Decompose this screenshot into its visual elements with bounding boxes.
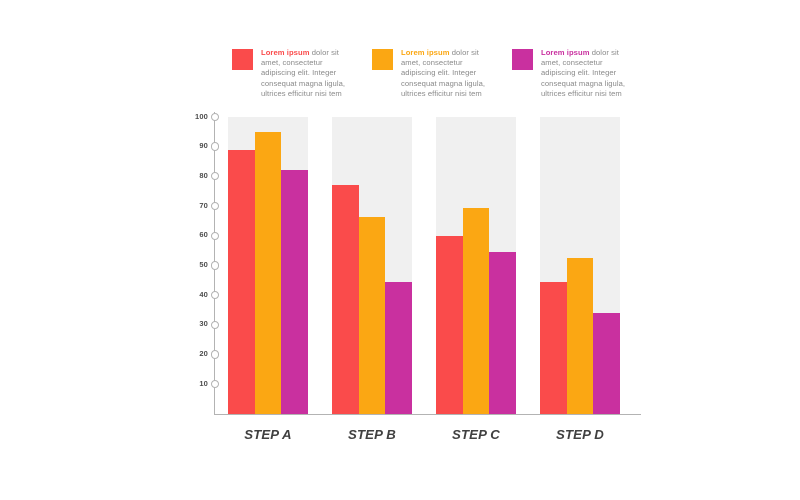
y-axis-tick-marker-icon: [211, 321, 219, 329]
bar[interactable]: [593, 313, 620, 414]
y-axis-tick-marker-icon: [211, 350, 219, 358]
chart-plot-area: 100908070605040302010 STEP ASTEP BSTEP C…: [0, 0, 800, 500]
bar[interactable]: [332, 185, 359, 414]
bar-group-bars: [540, 117, 620, 414]
y-axis-tick-marker-icon: [211, 261, 219, 269]
bar[interactable]: [359, 217, 386, 415]
bar[interactable]: [228, 150, 255, 414]
y-axis-tick-label: 80: [199, 171, 208, 180]
bar-group: STEP A: [228, 117, 308, 414]
y-axis-tick-label: 20: [199, 349, 208, 358]
bar-group-bars: [332, 117, 412, 414]
x-axis-category-label: STEP A: [214, 427, 322, 442]
y-axis-tick-marker-icon: [211, 172, 219, 180]
bar[interactable]: [463, 208, 490, 414]
y-axis-tick-marker-icon: [211, 232, 219, 240]
x-axis-category-label: STEP D: [526, 427, 634, 442]
bar-group: STEP D: [540, 117, 620, 414]
bar-group: STEP C: [436, 117, 516, 414]
x-axis-category-label: STEP C: [422, 427, 530, 442]
bar-group: STEP B: [332, 117, 412, 414]
x-axis-category-label: STEP B: [318, 427, 426, 442]
bar-group-bars: [436, 117, 516, 414]
y-axis-tick-marker-icon: [211, 380, 219, 388]
y-axis-tick-marker-icon: [211, 142, 219, 150]
y-axis-tick-marker-icon: [211, 291, 219, 299]
bar-chart-infographic: Lorem ipsum dolor sit amet, consectetur …: [0, 0, 800, 500]
bar[interactable]: [540, 282, 567, 414]
bar[interactable]: [436, 236, 463, 414]
bar-group-bars: [228, 117, 308, 414]
bar[interactable]: [255, 132, 282, 414]
y-axis-tick-label: 70: [199, 201, 208, 210]
y-axis-tick-label: 10: [199, 379, 208, 388]
y-axis-tick-label: 100: [195, 112, 208, 121]
bar[interactable]: [385, 282, 412, 414]
y-axis-tick-marker-icon: [211, 113, 219, 121]
y-axis-tick-label: 60: [199, 230, 208, 239]
y-axis-tick-label: 40: [199, 290, 208, 299]
bar[interactable]: [281, 170, 308, 414]
bar[interactable]: [489, 252, 516, 414]
y-axis-tick-label: 30: [199, 319, 208, 328]
bar[interactable]: [567, 258, 594, 414]
y-axis-tick-label: 90: [199, 141, 208, 150]
y-axis-tick-marker-icon: [211, 202, 219, 210]
y-axis-tick-label: 50: [199, 260, 208, 269]
